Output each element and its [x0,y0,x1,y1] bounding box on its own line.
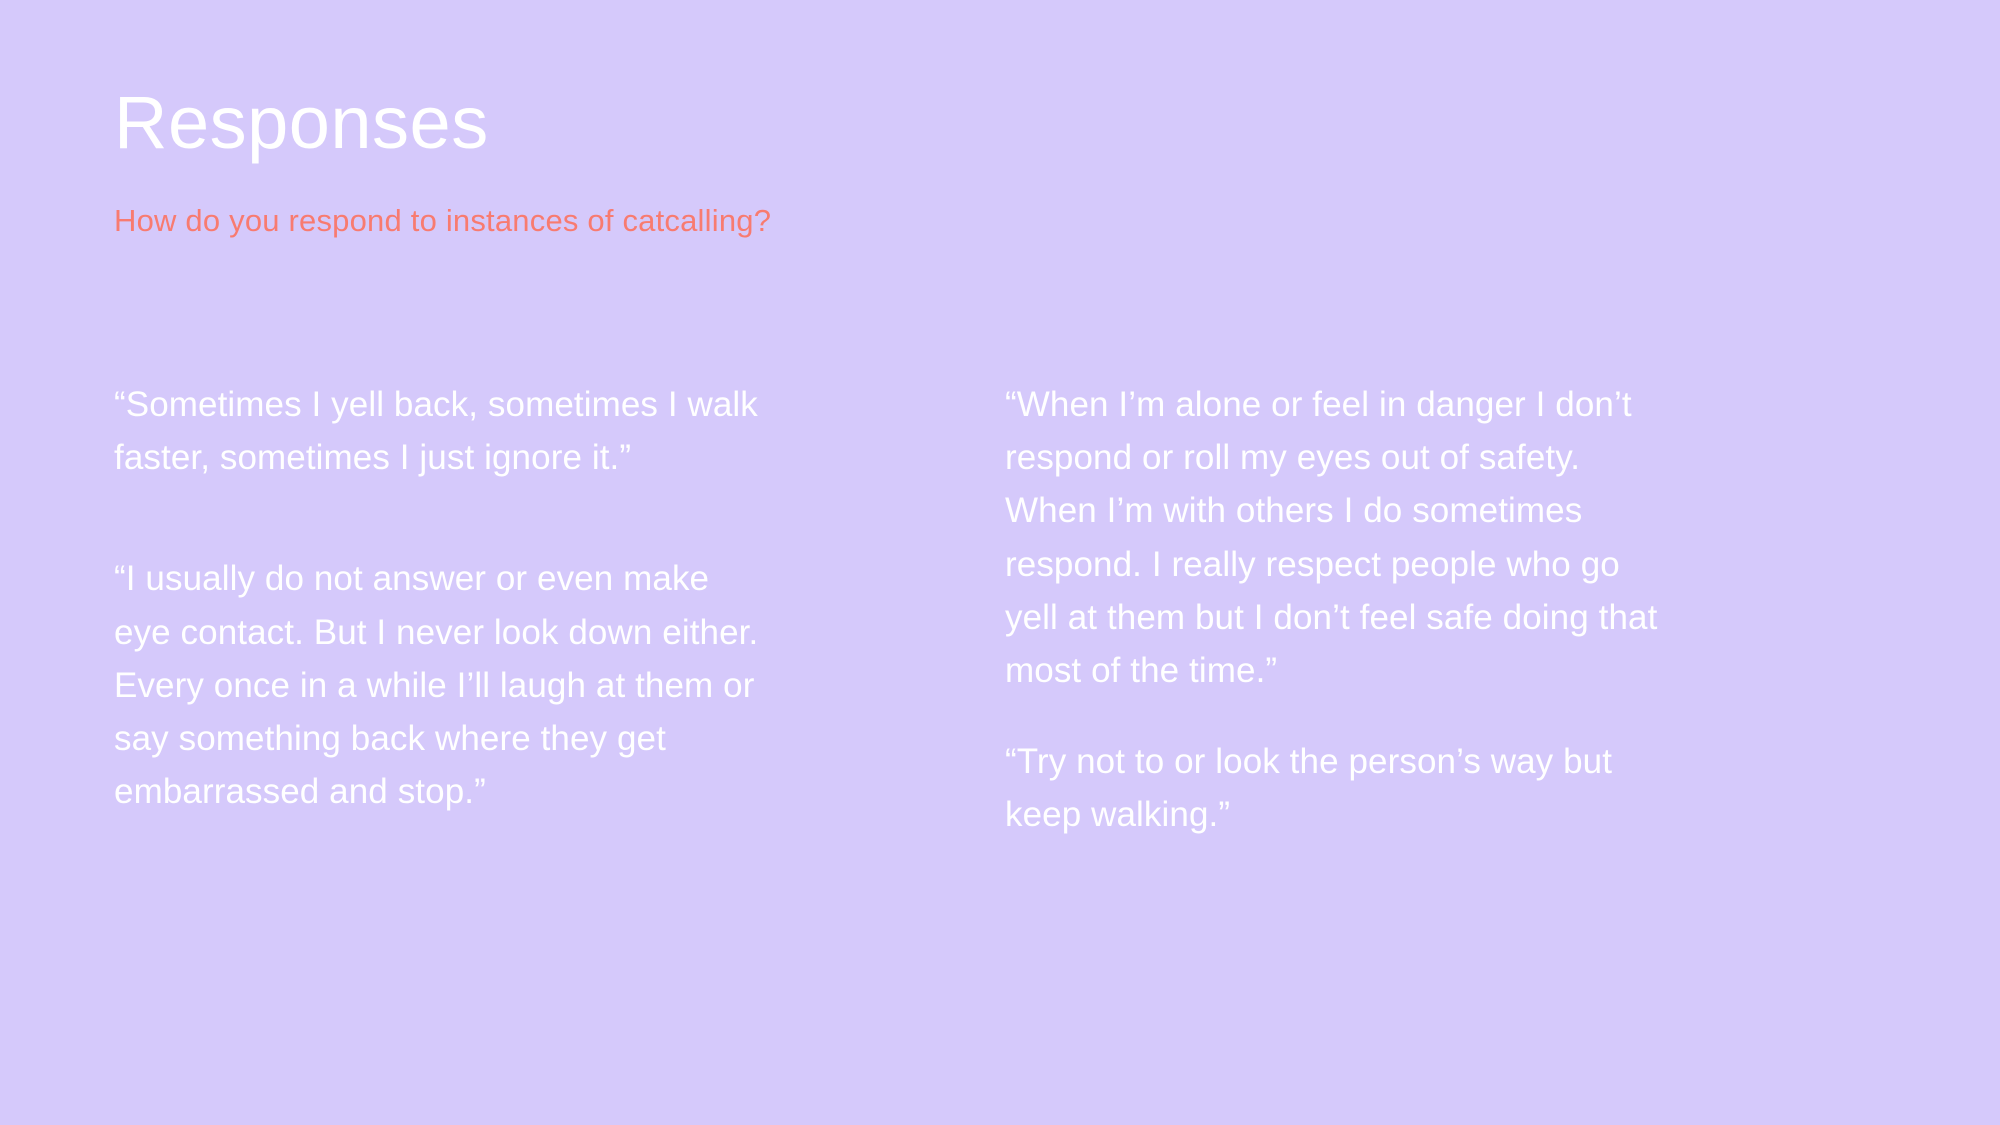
quote-text: “I usually do not answer or even make ey… [114,552,774,818]
quote-text: “Try not to or look the person’s way but… [1005,735,1665,841]
slide-header: Responses How do you respond to instance… [114,86,1814,239]
quotes-area: “Sometimes I yell back, sometimes I walk… [114,378,1886,842]
quote-text: “Sometimes I yell back, sometimes I walk… [114,378,774,484]
slide-canvas: Responses How do you respond to instance… [0,0,2000,1125]
quote-column-right: “When I’m alone or feel in danger I don’… [1005,378,1665,842]
quote-block: “Sometimes I yell back, sometimes I walk… [114,378,774,484]
quote-block: “Try not to or look the person’s way but… [1005,735,1665,841]
slide-subtitle-question: How do you respond to instances of catca… [114,160,1814,239]
page-title: Responses [114,86,1814,160]
quote-text: “When I’m alone or feel in danger I don’… [1005,378,1665,697]
quote-column-left: “Sometimes I yell back, sometimes I walk… [114,378,774,818]
quote-block: “When I’m alone or feel in danger I don’… [1005,378,1665,697]
quote-block: “I usually do not answer or even make ey… [114,552,774,818]
